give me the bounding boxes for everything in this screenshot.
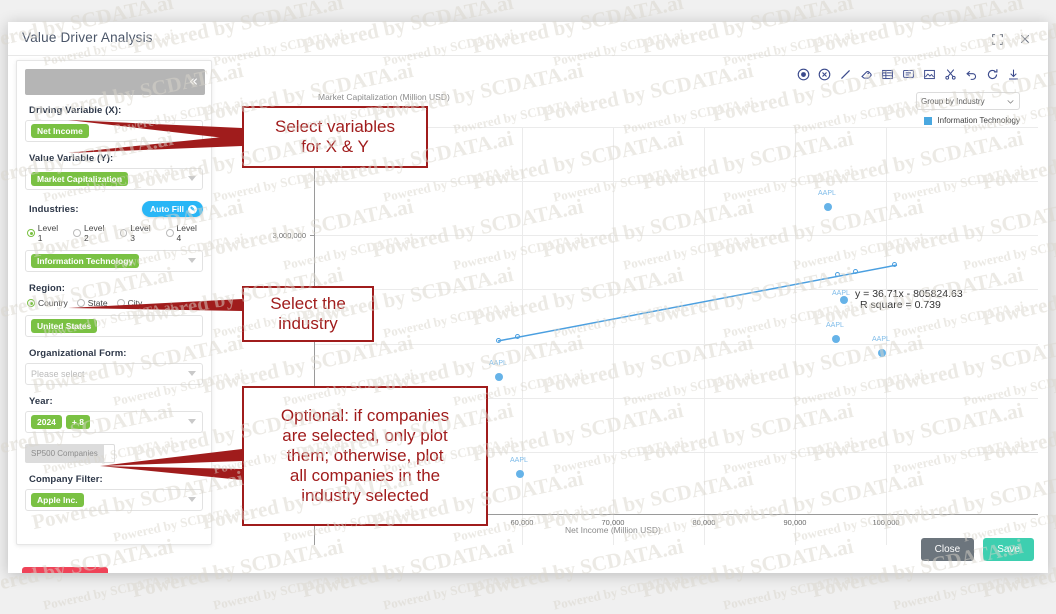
watermark-text: Powered by SCDATA.ai	[1050, 194, 1056, 263]
watermark-text: Powered by SCDATA.ai	[1050, 330, 1056, 399]
value-driver-analysis-dialog: Value Driver Analysis « Driving Variable…	[8, 22, 1048, 573]
annotation-text: Optional: if companies are selected, onl…	[281, 406, 449, 505]
annotation-company-filter: Optional: if companies are selected, onl…	[242, 386, 488, 526]
watermark-text: Powered by SCDATA.ai	[1050, 466, 1056, 535]
watermark-text: Powered by SCDATA.ai	[1050, 58, 1056, 127]
watermark-text: Powered by SCDATA.ai	[892, 570, 1026, 613]
watermark-text: Powered by SCDATA.ai	[382, 570, 516, 613]
annotation-text: Select the industry	[270, 294, 346, 334]
watermark-text: Powered by SCDATA.ai	[212, 570, 346, 613]
annotation-select-variables: Select variables for X & Y	[242, 106, 428, 168]
annotation-arrows	[8, 22, 1048, 573]
annotation-select-industry: Select the industry	[242, 286, 374, 342]
watermark-text: Powered by SCDATA.ai	[722, 570, 856, 613]
watermark-text: Powered by SCDATA.ai	[42, 570, 176, 613]
watermark-text: Powered by SCDATA.ai	[552, 570, 686, 613]
annotation-text: Select variables for X & Y	[275, 117, 395, 157]
